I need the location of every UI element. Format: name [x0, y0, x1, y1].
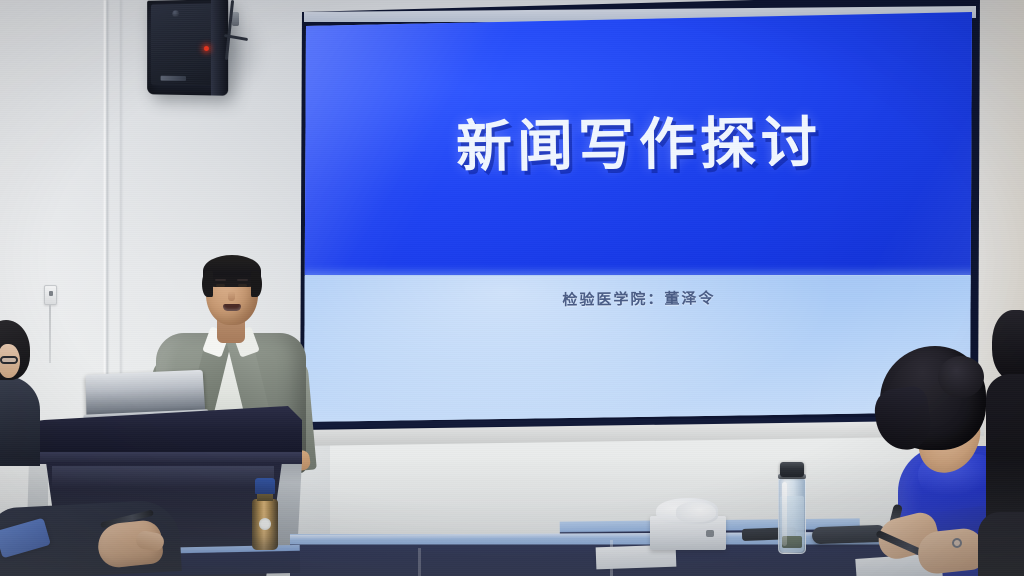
floor-shadow [0, 456, 1024, 576]
attendee-far-right-head [992, 310, 1024, 380]
presenter-eyebrow-left [215, 279, 226, 281]
presenter-mouth [223, 304, 241, 311]
attendee-far-left-glasses [0, 356, 18, 364]
presenter-hair-right [251, 271, 262, 297]
attendee-right-hair-bun [938, 356, 984, 398]
presenter-eye-right [238, 284, 247, 287]
speaker-brand-badge [161, 76, 186, 81]
outlet-wire [49, 305, 51, 363]
presenter-hair-left [202, 271, 213, 297]
slide-title: 新闻写作探讨 [304, 96, 974, 185]
wall-mounted-speaker [147, 0, 228, 96]
wall-outlet-plate [44, 285, 57, 305]
presenter-eyebrow-right [237, 279, 248, 281]
speaker-mount-bracket [232, 12, 239, 26]
presenter-nose [228, 291, 235, 301]
podium-top-surface [30, 406, 302, 454]
lecture-hall-scene: 新闻写作探讨 检验医学院：董泽令 [0, 0, 1024, 576]
speaker-grille [151, 4, 212, 86]
presenter-eye-left [216, 284, 225, 287]
speaker-knob [172, 10, 179, 17]
speaker-power-led [204, 46, 209, 51]
